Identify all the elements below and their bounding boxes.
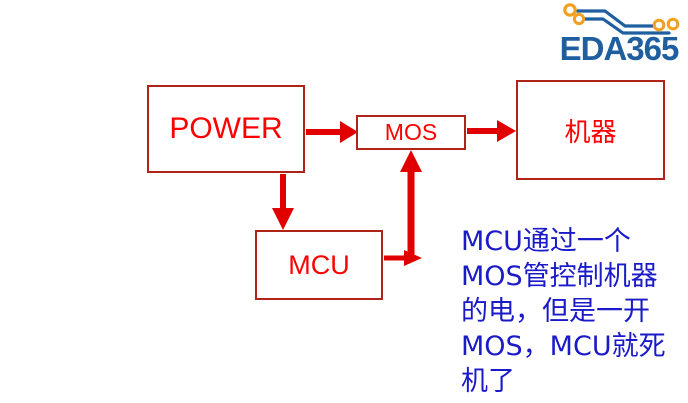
annotation-note: MCU通过一个 MOS管控制机器 的电，但是一开 MOS，MCU就死 机了 xyxy=(461,224,685,399)
arrow-power-to-mcu xyxy=(272,174,294,230)
note-line-4: MOS，MCU就死 xyxy=(461,329,685,364)
block-machine: 机器 xyxy=(516,80,665,180)
block-power: POWER xyxy=(147,85,305,173)
block-mcu: MCU xyxy=(255,230,383,300)
block-mos: MOS xyxy=(356,115,466,150)
note-line-2: MOS管控制机器 xyxy=(461,259,685,294)
arrow-mcu-to-mos xyxy=(384,150,422,266)
diagram-canvas: EDA365 POWER MOS 机器 xyxy=(0,0,688,403)
block-machine-label: 机器 xyxy=(564,112,616,149)
note-line-3: 的电，但是一开 xyxy=(461,294,685,329)
note-line-5: 机了 xyxy=(461,364,685,399)
arrow-mos-to-machine xyxy=(467,120,516,142)
arrow-power-to-mos xyxy=(306,121,358,143)
logo-wordmark: EDA365 xyxy=(553,31,685,67)
block-power-label: POWER xyxy=(169,112,282,146)
block-mcu-label: MCU xyxy=(288,250,350,281)
eda365-logo: EDA365 xyxy=(553,3,685,69)
note-line-1: MCU通过一个 xyxy=(461,224,685,259)
block-mos-label: MOS xyxy=(385,119,437,146)
